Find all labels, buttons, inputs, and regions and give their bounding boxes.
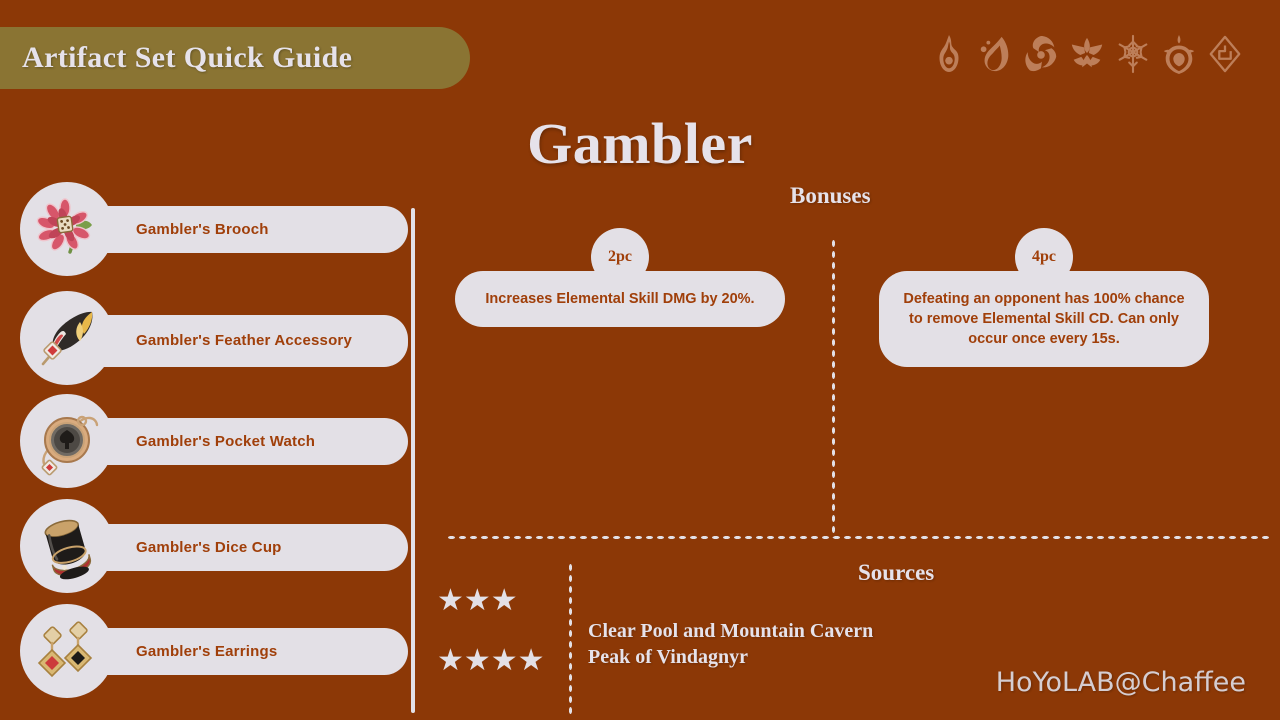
list-item-label: Gambler's Earrings bbox=[136, 642, 277, 662]
bonus-column-divider bbox=[831, 238, 836, 538]
list-item[interactable]: Gambler's Feather Accessory bbox=[20, 287, 392, 392]
piece-icon-circle bbox=[20, 394, 114, 488]
sources-heading: Sources bbox=[858, 560, 934, 586]
piece-pill[interactable]: Gambler's Feather Accessory bbox=[68, 315, 408, 367]
source-domain-4-star: Peak of Vindagnyr bbox=[588, 644, 873, 670]
rarity-4-star: ★★★★ bbox=[437, 646, 545, 676]
piece-pill[interactable]: Gambler's Pocket Watch bbox=[68, 418, 408, 465]
bonuses-sources-divider bbox=[446, 535, 1272, 540]
pyro-element-icon bbox=[930, 32, 968, 76]
bonus-2pc-badge: 2pc bbox=[591, 228, 649, 286]
list-item-label: Gambler's Feather Accessory bbox=[136, 331, 352, 351]
list-item-label: Gambler's Brooch bbox=[136, 220, 269, 240]
anemo-element-icon bbox=[1022, 32, 1060, 76]
dice-cup-artifact-icon bbox=[32, 511, 102, 581]
dendro-element-icon bbox=[1160, 32, 1198, 76]
bonuses-heading: Bonuses bbox=[790, 183, 871, 209]
flower-artifact-icon bbox=[32, 194, 102, 264]
feather-artifact-icon bbox=[32, 303, 102, 373]
piece-icon-circle bbox=[20, 604, 114, 698]
bonus-2pc-text: Increases Elemental Skill DMG by 20%. bbox=[485, 289, 754, 309]
vertical-divider bbox=[411, 208, 415, 713]
electro-element-icon bbox=[1068, 32, 1106, 76]
list-item[interactable]: Gambler's Pocket Watch bbox=[20, 392, 392, 497]
sources-column-divider bbox=[568, 562, 573, 718]
banner-title: Artifact Set Quick Guide bbox=[22, 41, 352, 75]
list-item-label: Gambler's Pocket Watch bbox=[136, 432, 315, 452]
geo-element-icon bbox=[1206, 32, 1244, 76]
piece-pill[interactable]: Gambler's Earrings bbox=[68, 628, 408, 675]
star-rating-4: ★★★★ bbox=[437, 646, 545, 676]
rarity-3-star: ★★★ bbox=[437, 586, 518, 616]
piece-pill[interactable]: Gambler's Dice Cup bbox=[68, 524, 408, 571]
header-banner: Artifact Set Quick Guide bbox=[0, 27, 470, 89]
star-rating-3: ★★★ bbox=[437, 586, 518, 616]
pocket-watch-artifact-icon bbox=[32, 406, 102, 476]
list-item[interactable]: Gambler's Dice Cup bbox=[20, 497, 392, 602]
earrings-artifact-icon bbox=[32, 616, 102, 686]
source-domain-list: Clear Pool and Mountain Cavern Peak of V… bbox=[588, 618, 873, 671]
list-item-label: Gambler's Dice Cup bbox=[136, 538, 282, 558]
piece-pill[interactable]: Gambler's Brooch bbox=[68, 206, 408, 253]
cryo-element-icon bbox=[1114, 32, 1152, 76]
artifact-set-title: Gambler bbox=[0, 110, 1280, 177]
list-item[interactable]: Gambler's Earrings bbox=[20, 602, 392, 707]
bonus-4pc-text: Defeating an opponent has 100% chance to… bbox=[899, 289, 1189, 349]
bonus-4pc-badge: 4pc bbox=[1015, 228, 1073, 286]
piece-icon-circle bbox=[20, 291, 114, 385]
source-domain-3-star: Clear Pool and Mountain Cavern bbox=[588, 618, 873, 644]
piece-icon-circle bbox=[20, 499, 114, 593]
artifact-piece-list: Gambler's Brooch bbox=[20, 182, 392, 707]
list-item[interactable]: Gambler's Brooch bbox=[20, 182, 392, 287]
element-symbol-row bbox=[930, 32, 1244, 76]
watermark: HoYoLAB@Chaffee bbox=[996, 667, 1246, 698]
piece-icon-circle bbox=[20, 182, 114, 276]
hydro-element-icon bbox=[976, 32, 1014, 76]
